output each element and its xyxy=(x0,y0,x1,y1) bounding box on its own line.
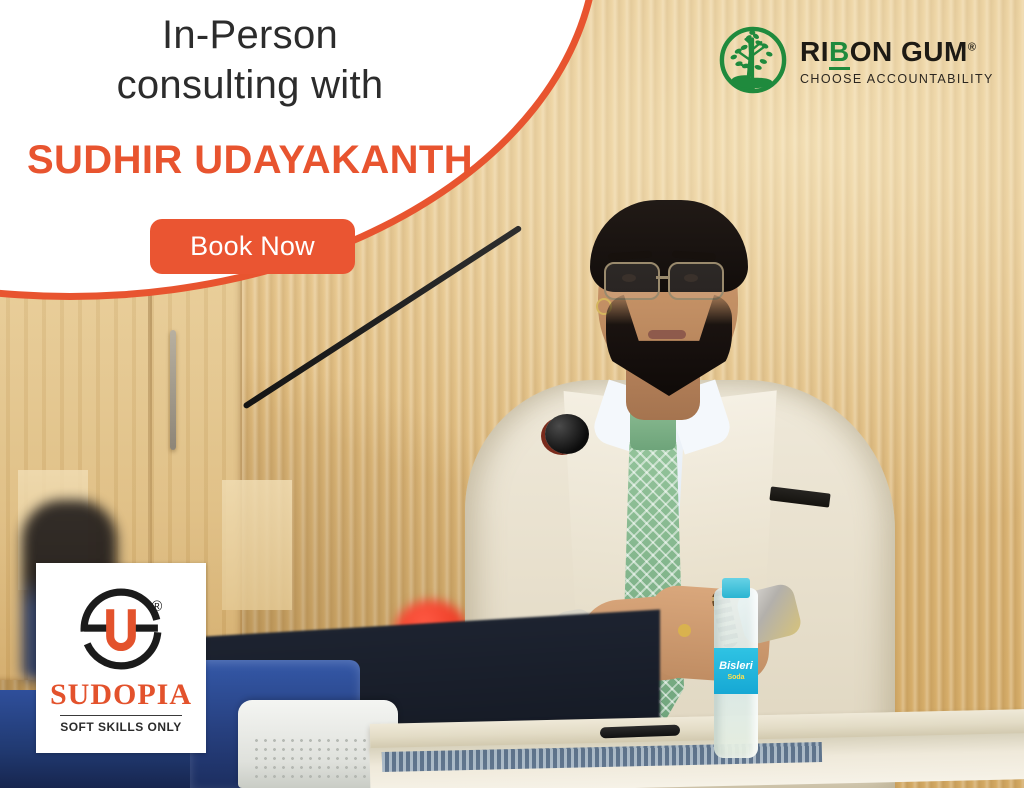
ribon-gum-tagline: CHOOSE ACCOUNTABILITY xyxy=(800,72,994,86)
ribon-gum-logo[interactable]: RIBON GUM® CHOOSE ACCOUNTABILITY xyxy=(716,14,1006,106)
speaker-grille-holes xyxy=(252,736,380,782)
sudopia-divider xyxy=(60,715,182,717)
sudopia-logo-card[interactable]: ® SUDOPIA SOFT SKILLS ONLY xyxy=(36,563,206,753)
tree-in-circle-icon xyxy=(716,23,790,97)
eyeglass-bridge xyxy=(656,276,670,279)
mouth xyxy=(648,330,686,339)
microphone-head xyxy=(545,414,589,454)
door-handle xyxy=(170,330,176,450)
finger-ring xyxy=(678,624,691,637)
headline-line-2: consulting with xyxy=(0,60,500,110)
headline-line-1: In-Person xyxy=(0,10,500,60)
book-now-button[interactable]: Book Now xyxy=(150,219,355,274)
sudopia-name: SUDOPIA xyxy=(50,680,192,710)
promo-headline: In-Person consulting with xyxy=(0,10,500,110)
brand-name-before: RI xyxy=(800,36,829,67)
water-bottle-label: Bisleri Soda xyxy=(714,648,758,694)
ribon-gum-name: RIBON GUM® xyxy=(800,38,994,66)
promo-card-content: In-Person consulting with SUDHIR UDAYAKA… xyxy=(0,0,600,300)
svg-text:®: ® xyxy=(152,599,163,615)
ribon-gum-wordmark: RIBON GUM® CHOOSE ACCOUNTABILITY xyxy=(800,34,994,86)
promo-poster: Bisleri Soda In-Person consulting with S… xyxy=(0,0,1024,788)
bottle-brand-text: Bisleri xyxy=(719,661,753,672)
registered-mark-icon: ® xyxy=(968,42,977,54)
sudopia-su-monogram-icon: ® xyxy=(76,584,166,674)
brand-name-after: ON GUM xyxy=(850,36,968,67)
eyeglass-lens-left xyxy=(604,262,660,300)
sudopia-tagline: SOFT SKILLS ONLY xyxy=(60,720,182,734)
bottle-sub-text: Soda xyxy=(727,674,744,681)
wall-panel-right xyxy=(222,480,292,610)
water-bottle-cap xyxy=(722,578,750,598)
brand-name-highlight: B xyxy=(829,36,850,70)
speaker-name: SUDHIR UDAYAKANTH xyxy=(0,138,500,183)
